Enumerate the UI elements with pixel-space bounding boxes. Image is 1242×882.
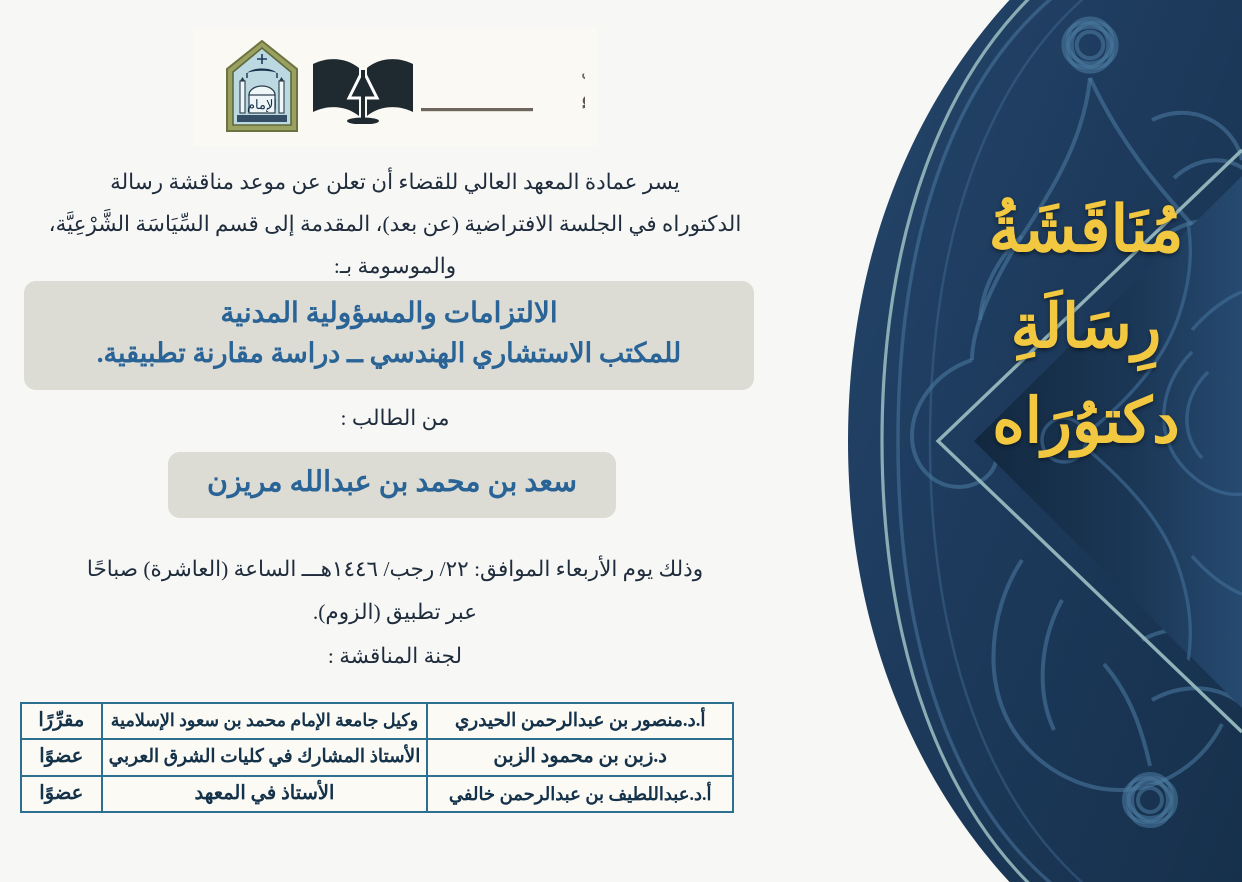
- svg-text:للقضـــــاء: للقضـــــاء: [581, 85, 585, 115]
- content-column: الإمام المعهد العالي للقضـــــاء يسر عم: [0, 0, 790, 882]
- intro-paragraph: يسر عمادة المعهد العالي للقضاء أن تعلن ع…: [0, 162, 790, 288]
- intro-line-1: يسر عمادة المعهد العالي للقضاء أن تعلن ع…: [12, 162, 778, 204]
- schedule-line-1: وذلك يوم الأربعاء الموافق: ٢٢/ رجب/ ١٤٤٦…: [18, 548, 772, 591]
- table-row: أ.د.عبداللطيف بن عبدالرحمن خالفي الأستاذ…: [21, 776, 733, 812]
- vertical-title-line-3: دكتوُرَاه: [992, 390, 1180, 456]
- thesis-title-plaque: الالتزامات والمسؤولية المدنية للمكتب الا…: [24, 281, 754, 390]
- committee-member-position: مقرِّرًا: [21, 703, 102, 739]
- committee-member-role: الأستاذ المشارك في كليات الشرق العربي: [102, 739, 428, 775]
- svg-text:المعهد العالي: المعهد العالي: [581, 61, 585, 82]
- committee-member-name: د.زبن بن محمود الزبن: [427, 739, 733, 775]
- right-decorative-panel: مُنَاقَشَةُ رِسَالَةِ دكتوُرَاه: [722, 0, 1242, 882]
- table-row: أ.د.منصور بن عبدالرحمن الحيدري وكيل جامع…: [21, 703, 733, 739]
- navy-blob: [848, 0, 1242, 882]
- teal-arc-outline: [882, 0, 1074, 882]
- committee-member-position: عضوًا: [21, 776, 102, 812]
- imam-university-logo-icon: الإمام: [223, 39, 301, 135]
- committee-member-role: الأستاذ في المعهد: [102, 776, 428, 812]
- chevron-ornament: [1042, 206, 1242, 678]
- schedule-line-2: عبر تطبيق (الزوم).: [18, 591, 772, 634]
- committee-member-role: وكيل جامعة الإمام محمد بن سعود الإسلامية: [102, 703, 428, 739]
- committee-member-name: أ.د.عبداللطيف بن عبدالرحمن خالفي: [427, 776, 733, 812]
- logo-strip: الإمام المعهد العالي للقضـــــاء: [193, 28, 597, 146]
- thesis-title-line-2: للمكتب الاستشاري الهندسي ــ دراسة مقارنة…: [46, 334, 732, 374]
- vertical-title-block: مُنَاقَشَةُ رِسَالَةِ دكتوُرَاه: [930, 0, 1242, 882]
- chevron-outline: [938, 150, 1242, 732]
- vertical-title-line-1: مُنَاقَشَةُ: [988, 196, 1183, 264]
- table-row: د.زبن بن محمود الزبن الأستاذ المشارك في …: [21, 739, 733, 775]
- poster-root: مُنَاقَشَةُ رِسَالَةِ دكتوُرَاه: [0, 0, 1242, 882]
- chevron-wedge: [974, 176, 1242, 708]
- committee-label: لجنة المناقشة :: [0, 644, 790, 669]
- student-name-plaque: سعد بن محمد بن عبدالله مريزن: [168, 452, 616, 518]
- open-book-scales-icon: [309, 50, 417, 124]
- arabesque-ornament: [898, 0, 1242, 882]
- vertical-title-line-2: رِسَالَةِ: [1011, 296, 1161, 361]
- panel-artwork: [722, 0, 1242, 882]
- committee-table: أ.د.منصور بن عبدالرحمن الحيدري وكيل جامع…: [20, 702, 734, 813]
- institute-wordmark-icon: المعهد العالي للقضـــــاء: [417, 51, 585, 123]
- student-label: من الطالب :: [0, 406, 790, 431]
- committee-member-position: عضوًا: [21, 739, 102, 775]
- intro-line-2: الدكتوراه في الجلسة الافتراضية (عن بعد)،…: [12, 204, 778, 288]
- thesis-title-line-1: الالتزامات والمسؤولية المدنية: [46, 293, 732, 334]
- committee-member-name: أ.د.منصور بن عبدالرحمن الحيدري: [427, 703, 733, 739]
- svg-text:الإمام: الإمام: [247, 97, 277, 113]
- schedule-block: وذلك يوم الأربعاء الموافق: ٢٢/ رجب/ ١٤٤٦…: [0, 548, 790, 634]
